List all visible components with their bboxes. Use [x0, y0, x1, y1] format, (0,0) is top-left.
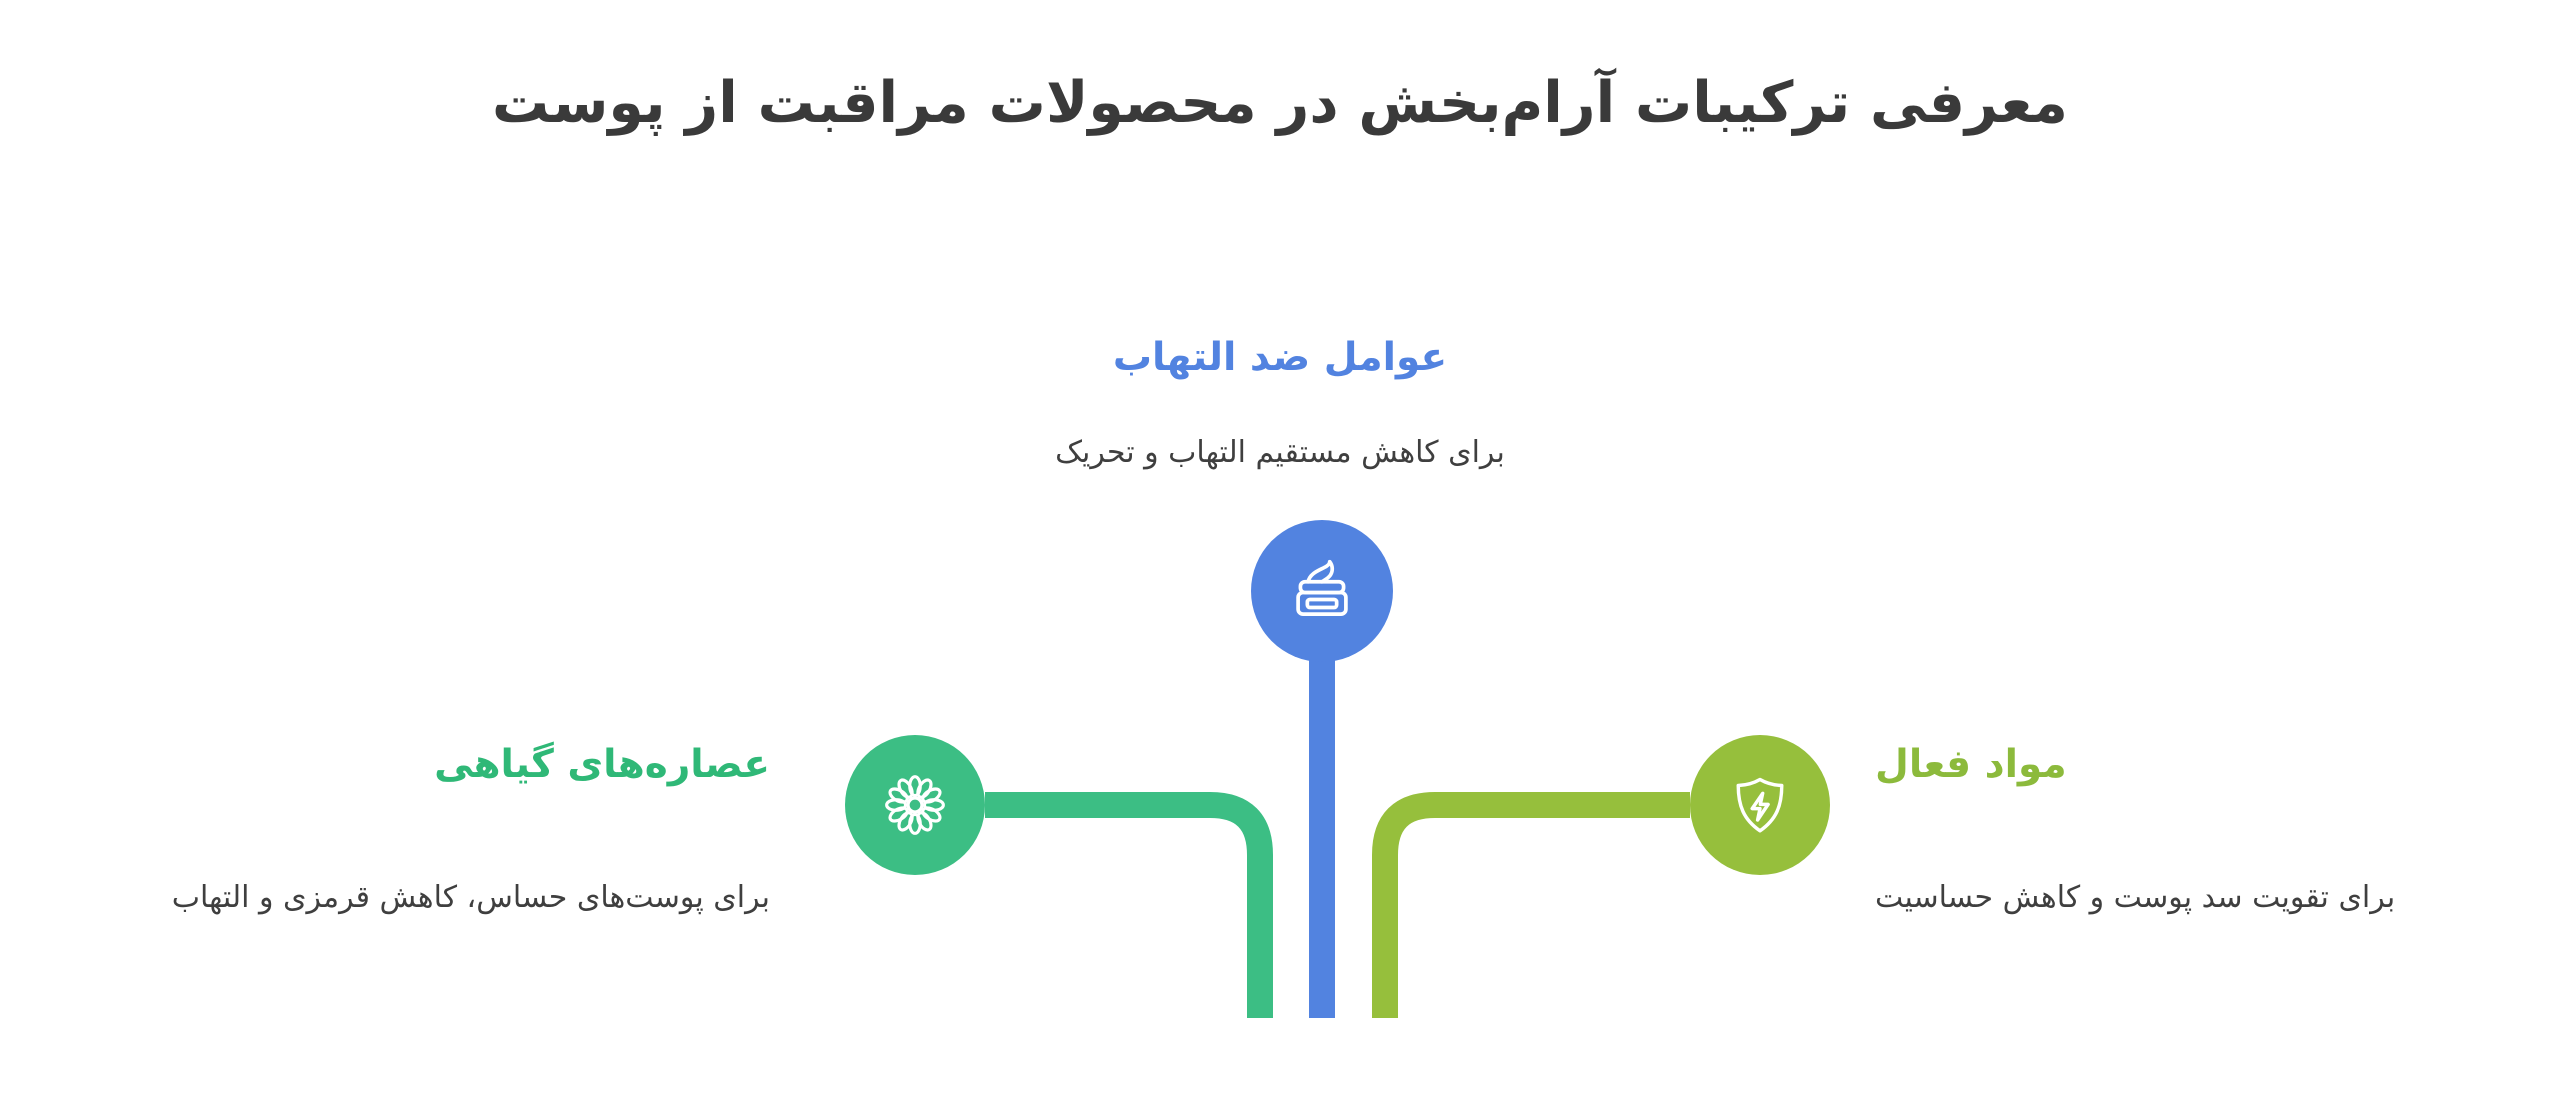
- shield-bolt-icon: [1724, 769, 1796, 841]
- node-herbal-extracts[interactable]: [845, 735, 985, 875]
- chamomile-flower-icon: [879, 769, 951, 841]
- cream-jar-icon: [1285, 554, 1359, 628]
- description-active-ingredients: برای تقویت سد پوست و کاهش حساسیت: [1875, 877, 2560, 919]
- description-herbal-extracts: برای پوست‌های حساس، کاهش قرمزی و التهاب: [0, 877, 770, 919]
- label-active-ingredients: مواد فعال: [1875, 740, 2560, 791]
- page-title: معرفی ترکیبات آرام‌بخش در محصولات مراقبت…: [0, 68, 2560, 139]
- connector-right-olive: [1385, 805, 1690, 1018]
- label-anti-inflammatory: عوامل ضد التهاب: [0, 333, 2560, 384]
- connector-left-green: [985, 805, 1260, 1018]
- label-herbal-extracts: عصاره‌های گیاهی: [0, 740, 770, 791]
- description-anti-inflammatory: برای کاهش مستقیم التهاب و تحریک: [0, 432, 2560, 474]
- node-anti-inflammatory[interactable]: [1251, 520, 1393, 662]
- mindmap-canvas: معرفی ترکیبات آرام‌بخش در محصولات مراقبت…: [0, 0, 2560, 1116]
- node-active-ingredients[interactable]: [1690, 735, 1830, 875]
